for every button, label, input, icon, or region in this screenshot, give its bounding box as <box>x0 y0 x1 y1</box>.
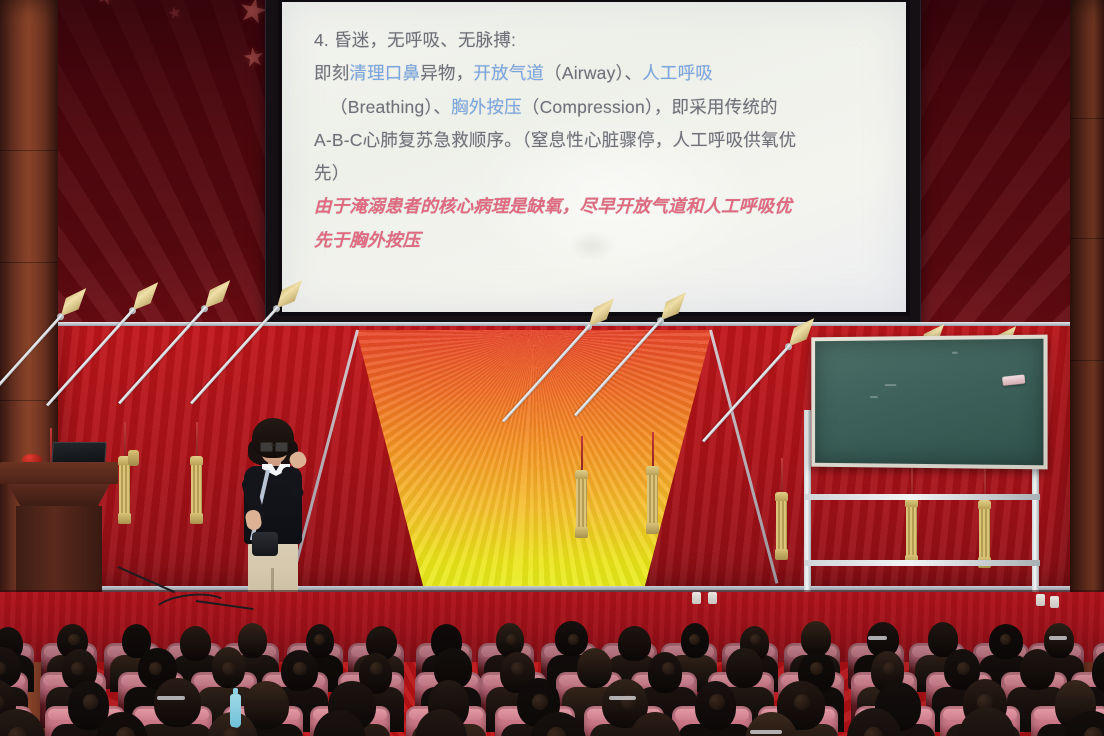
tassel-cap <box>775 492 788 501</box>
spear-tassel-5 <box>575 470 588 540</box>
tassel-cord-7 <box>781 458 783 492</box>
audience-hair-bun <box>68 634 79 645</box>
water-bottle[interactable] <box>230 694 241 728</box>
spear-tassel-7 <box>775 492 788 562</box>
audience-hair-bun <box>8 727 27 736</box>
slide-text-segment: 即刻 <box>314 63 349 83</box>
audience-hair-bun <box>709 694 725 710</box>
slide-text-segment: （Compression），即采用传统的 <box>522 97 778 117</box>
slide-text-segment: 人工呼吸 <box>642 63 713 83</box>
slide-line: 4. 昏迷，无呼吸、无脉搏: <box>314 24 888 57</box>
slide-content: 4. 昏迷，无呼吸、无脉搏:即刻清理口鼻异物，开放气道（Airway）、人工呼吸… <box>282 2 906 312</box>
projection-screen-surface[interactable]: 4. 昏迷，无呼吸、无脉搏:即刻清理口鼻异物，开放气道（Airway）、人工呼吸… <box>282 2 906 312</box>
slide-text-segment: 胸外按压 <box>451 97 522 117</box>
audience-head <box>180 626 211 661</box>
tassel-body <box>776 501 787 551</box>
audience-head <box>238 623 267 658</box>
audience-hair-clip <box>868 636 887 640</box>
blackboard-eraser[interactable] <box>1002 374 1025 386</box>
tassel-foot <box>190 513 203 524</box>
chalkboard-surface[interactable] <box>815 339 1043 466</box>
projection-screen-frame: 4. 昏迷，无呼吸、无脉搏:即刻清理口鼻异物，开放气道（Airway）、人工呼吸… <box>265 0 921 329</box>
audience-head <box>618 626 651 661</box>
tassel-cord-6 <box>652 432 654 466</box>
audience-hair-bun <box>883 662 896 675</box>
tassel-cap <box>575 470 588 479</box>
tassel-body <box>191 465 202 515</box>
spear-tassel-2 <box>118 456 131 526</box>
chalkboard[interactable] <box>811 335 1047 470</box>
audience-hair-bun <box>864 727 883 736</box>
tassel-cord-2 <box>124 422 126 456</box>
audience-hair-bun <box>810 662 823 675</box>
slide-text-segment: 异物， <box>420 63 473 83</box>
audience-hair-clip <box>750 730 782 734</box>
slide-line: 先） <box>314 157 888 190</box>
lecture-hall-scene: ★ ★ ★ ★ 4. 昏迷，无呼吸、无脉搏:即刻清理口鼻异物，开放气道（Airw… <box>0 0 1104 736</box>
slide-line: A-B-C心肺复苏急救顺序。（窒息性心脏骤停，人工呼吸供氧优 <box>314 124 888 157</box>
tassel-cap <box>190 456 203 465</box>
slide-text-segment: 由于淹溺患者的核心病理是缺氧，尽早开放气道和人工呼吸优 <box>314 196 792 216</box>
audience-head <box>577 648 613 689</box>
audience-hair-clip <box>1049 636 1067 640</box>
audience-hair-clip <box>157 696 185 700</box>
slide-text-segment: 4. 昏迷，无呼吸、无脉搏: <box>314 30 516 50</box>
audience-hair-bun <box>511 662 524 675</box>
blackboard-crossbar-upper <box>804 494 1040 500</box>
slide-text-segment: （Breathing）、 <box>330 97 451 117</box>
tassel-foot <box>775 549 788 560</box>
tassel-cord-3 <box>196 422 198 456</box>
blackboard-assembly[interactable] <box>800 336 1062 616</box>
audience-hair-clip <box>609 696 636 700</box>
audience-head <box>801 621 831 656</box>
projection-screen-bezel: 4. 昏迷，无呼吸、无脉搏:即刻清理口鼻异物，开放气道（Airway）、人工呼吸… <box>278 0 910 316</box>
blackboard-frame-left <box>804 410 811 610</box>
slide-line: 即刻清理口鼻异物，开放气道（Airway）、人工呼吸 <box>314 57 888 90</box>
slide-text-segment: 清理口鼻 <box>349 63 420 83</box>
presenter-glasses-icon <box>260 442 288 450</box>
spear-tassel-6 <box>646 466 659 536</box>
audience-hair-bun <box>957 662 970 675</box>
tassel-body <box>119 465 130 515</box>
presenter-hair <box>252 418 294 458</box>
backdrop-top-trim <box>58 322 1070 326</box>
tassel-cord-5 <box>581 436 583 470</box>
tassel-body <box>647 475 658 525</box>
spear-tassel-3 <box>190 456 203 526</box>
slide-text-segment: 开放气道 <box>473 63 544 83</box>
tassel-body <box>576 479 587 529</box>
slide-line: 由于淹溺患者的核心病理是缺氧，尽早开放气道和人工呼吸优 <box>314 190 888 223</box>
audience-hair-bun <box>223 727 242 736</box>
slide-text-segment: 先） <box>314 163 349 183</box>
audience-head <box>726 648 763 689</box>
gold-object-beside-podium <box>128 450 139 466</box>
slide-line: （Breathing）、胸外按压（Compression），即采用传统的 <box>314 91 888 124</box>
audience-hair-bun <box>222 662 235 675</box>
chalk-mark-2 <box>870 396 878 398</box>
tassel-foot <box>118 513 131 524</box>
tassel-foot <box>575 527 588 538</box>
slide-line: 先于胸外按压 <box>314 224 888 257</box>
audience-hair-bun <box>293 662 306 675</box>
audience <box>0 598 1104 736</box>
audience-hair-bun <box>547 727 566 736</box>
tassel-foot <box>646 523 659 534</box>
slide-text-segment: A-B-C心肺复苏急救顺序。（窒息性心脏骤停，人工呼吸供氧优 <box>314 130 796 150</box>
slide-text-segment: （Airway）、 <box>544 63 642 83</box>
tassel-cap <box>646 466 659 475</box>
chalk-mark-1 <box>885 384 897 386</box>
chalk-mark-3 <box>952 352 958 354</box>
podium-top <box>0 462 118 484</box>
audience-head <box>1020 649 1055 690</box>
slide-text-segment: 先于胸外按压 <box>314 230 420 250</box>
podium-taper <box>8 484 110 506</box>
presenter-shoulder-bag <box>252 532 278 556</box>
audience-head <box>154 678 201 727</box>
blackboard-crossbar-lower <box>804 560 1040 566</box>
